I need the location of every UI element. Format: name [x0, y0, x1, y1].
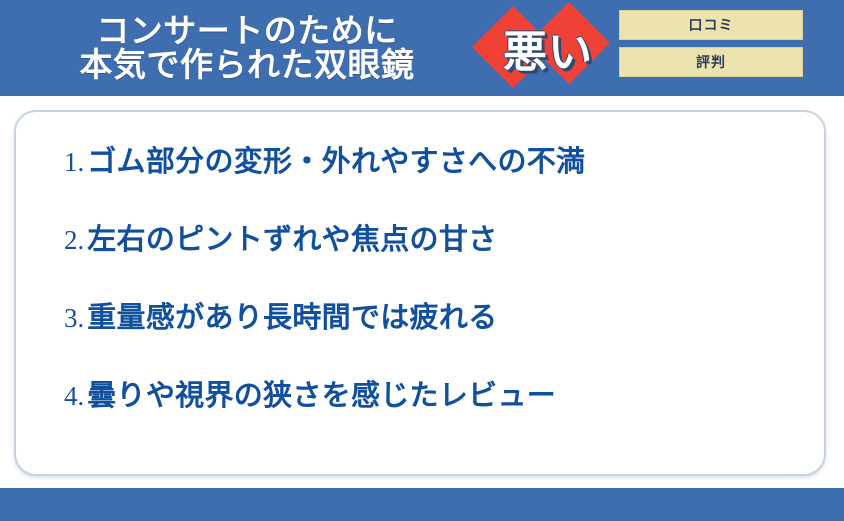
list-item: 4. 曇りや視界の狭さを感じたレビュー	[64, 372, 800, 450]
list-item-number: 1.	[64, 147, 84, 178]
list-item-label: 曇りや視界の狭さを感じたレビュー	[87, 372, 556, 414]
list-item-number: 2.	[64, 225, 84, 256]
list-item: 3. 重量感があり長時間では疲れる	[64, 294, 800, 372]
list-item-label: 左右のピントずれや焦点の甘さ	[87, 216, 497, 258]
verdict-stamp: 悪い	[478, 0, 618, 96]
tag-kuchikomi[interactable]: 口コミ	[619, 10, 803, 40]
verdict-label: 悪い	[478, 0, 618, 96]
footer-bar	[0, 488, 844, 521]
list-item: 1. ゴム部分の変形・外れやすさへの不満	[64, 138, 800, 216]
header-tag-group: 口コミ 評判	[619, 10, 803, 77]
tag-hyouban-label: 評判	[696, 52, 726, 72]
complaint-list: 1. ゴム部分の変形・外れやすさへの不満 2. 左右のピントずれや焦点の甘さ 3…	[64, 138, 800, 450]
list-item-label: ゴム部分の変形・外れやすさへの不満	[87, 138, 585, 180]
list-item-number: 4.	[64, 381, 84, 412]
tag-hyouban[interactable]: 評判	[619, 47, 803, 77]
page-title: コンサートのために 本気で作られた双眼鏡	[14, 2, 480, 94]
content-card: 1. ゴム部分の変形・外れやすさへの不満 2. 左右のピントずれや焦点の甘さ 3…	[14, 110, 826, 476]
slide-root: コンサートのために 本気で作られた双眼鏡 悪い 口コミ 評判 1. ゴム部分の変…	[0, 0, 844, 521]
page-title-line-1: コンサートのために	[96, 14, 398, 48]
page-title-line-2: 本気で作られた双眼鏡	[80, 48, 415, 82]
list-item-label: 重量感があり長時間では疲れる	[87, 294, 497, 336]
header-bar: コンサートのために 本気で作られた双眼鏡 悪い 口コミ 評判	[0, 0, 844, 96]
list-item-number: 3.	[64, 303, 84, 334]
list-item: 2. 左右のピントずれや焦点の甘さ	[64, 216, 800, 294]
tag-kuchikomi-label: 口コミ	[689, 15, 734, 35]
